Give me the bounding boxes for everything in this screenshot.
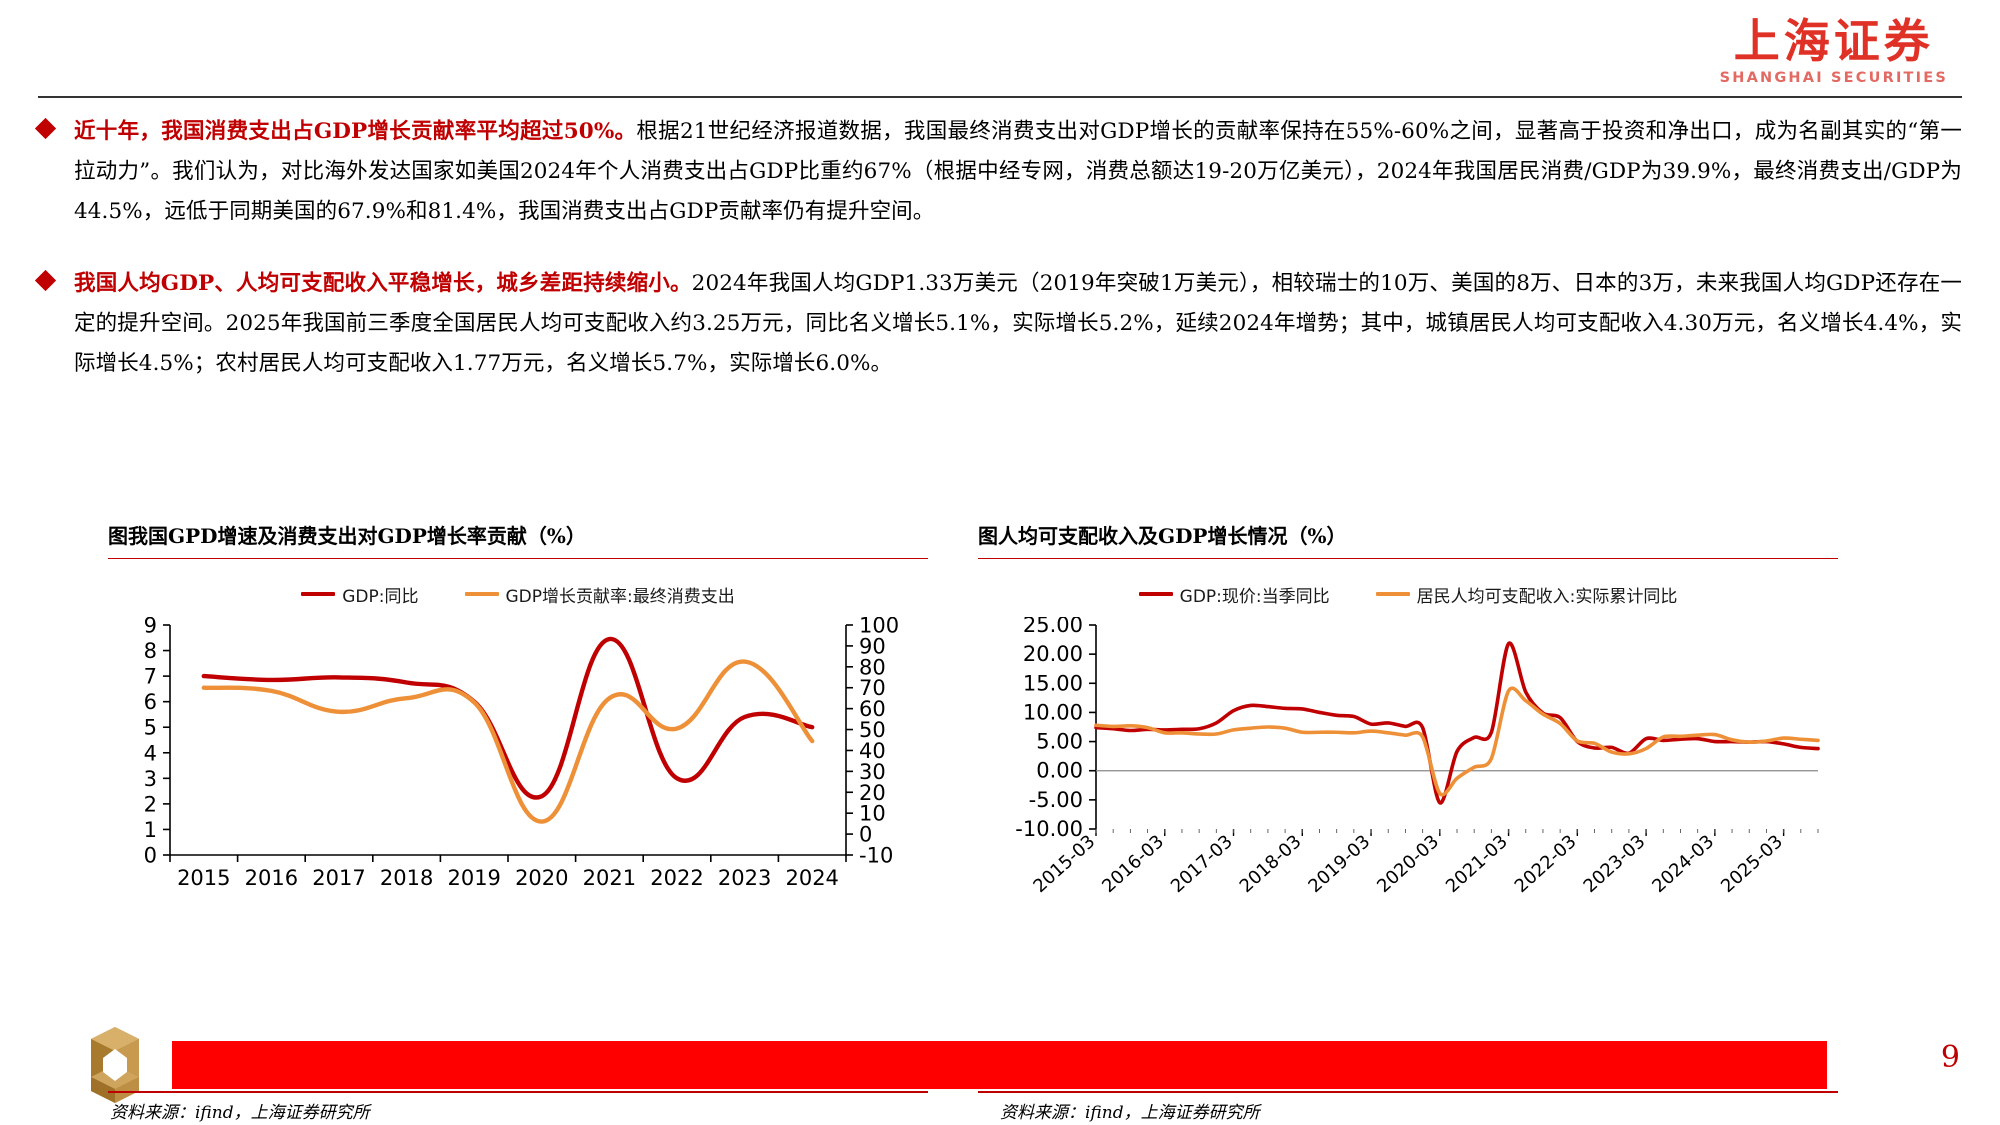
- svg-text:100: 100: [859, 617, 899, 638]
- slide-page: 上海证券 SHANGHAI SECURITIES 近十年，我国消费支出占GDP增…: [0, 0, 2000, 1125]
- svg-text:20: 20: [859, 781, 886, 805]
- svg-text:2020-03: 2020-03: [1373, 831, 1443, 897]
- svg-text:5: 5: [144, 716, 157, 740]
- svg-text:0: 0: [859, 823, 872, 847]
- svg-text:2023-03: 2023-03: [1579, 831, 1649, 897]
- paragraph-income: 我国人均GDP、人均可支配收入平稳增长，城乡差距持续缩小。2024年我国人均GD…: [38, 264, 1962, 384]
- legend-label-consumption-contrib: GDP增长贡献率:最终消费支出: [506, 582, 735, 607]
- source-note-right: 资料来源：ifind，上海证券研究所: [1000, 1098, 1260, 1123]
- svg-text:2023: 2023: [718, 866, 771, 890]
- svg-text:2021-03: 2021-03: [1442, 831, 1512, 897]
- svg-text:8: 8: [144, 639, 157, 663]
- chart-gdp-contribution-title: 图我国GPD增速及消费支出对GDP增长率贡献（%）: [108, 520, 928, 558]
- paragraph-income-text: 我国人均GDP、人均可支配收入平稳增长，城乡差距持续缩小。2024年我国人均GD…: [74, 264, 1962, 384]
- svg-text:30: 30: [859, 760, 886, 784]
- svg-text:2021: 2021: [583, 866, 636, 890]
- header-divider: [38, 96, 1962, 98]
- svg-text:-10: -10: [859, 844, 893, 868]
- chart-gdp-contribution-legend: GDP:同比 GDP增长贡献率:最终消费支出: [108, 581, 928, 607]
- svg-text:25.00: 25.00: [1023, 617, 1083, 637]
- paragraph-consumption: 近十年，我国消费支出占GDP增长贡献率平均超过50%。根据21世纪经济报道数据，…: [38, 112, 1962, 232]
- svg-text:15.00: 15.00: [1023, 671, 1083, 695]
- paragraph-consumption-text: 近十年，我国消费支出占GDP增长贡献率平均超过50%。根据21世纪经济报道数据，…: [74, 112, 1962, 232]
- legend-swatch-dark-red: [1139, 592, 1173, 596]
- svg-text:0.00: 0.00: [1036, 759, 1083, 783]
- svg-text:2016-03: 2016-03: [1098, 831, 1168, 897]
- legend-item-gdp-yoy: GDP:同比: [301, 582, 418, 607]
- svg-text:2019: 2019: [447, 866, 500, 890]
- svg-text:70: 70: [859, 676, 886, 700]
- svg-text:2025-03: 2025-03: [1717, 831, 1787, 897]
- svg-text:1: 1: [144, 818, 157, 842]
- brand-name-en: SHANGHAI SECURITIES: [1720, 71, 1948, 86]
- company-emblem-icon: [82, 1025, 148, 1105]
- svg-text:3: 3: [144, 767, 157, 791]
- source-divider-left: [108, 1091, 928, 1093]
- svg-text:2017-03: 2017-03: [1167, 831, 1237, 897]
- chart-income-gdp-svg: -10.00-5.000.005.0010.0015.0020.0025.002…: [978, 617, 1838, 912]
- legend-swatch-orange: [465, 592, 499, 596]
- legend-item-consumption-contrib: GDP增长贡献率:最终消费支出: [465, 582, 735, 607]
- svg-text:2024-03: 2024-03: [1648, 831, 1718, 897]
- svg-text:2019-03: 2019-03: [1304, 831, 1374, 897]
- source-divider-right: [978, 1091, 1838, 1093]
- paragraph-consumption-lead: 近十年，我国消费支出占GDP增长贡献率平均超过50%。: [74, 119, 636, 144]
- legend-item-disposable-income: 居民人均可支配收入:实际累计同比: [1376, 582, 1678, 607]
- svg-text:2: 2: [144, 792, 157, 816]
- chart-title-underline: [978, 558, 1838, 559]
- svg-text:5.00: 5.00: [1036, 730, 1083, 754]
- page-number: 9: [1941, 1040, 1960, 1075]
- svg-text:2018-03: 2018-03: [1236, 831, 1306, 897]
- legend-label-gdp-current-price: GDP:现价:当季同比: [1180, 582, 1330, 607]
- diamond-bullet-icon: [35, 270, 56, 291]
- chart-title-underline: [108, 558, 928, 559]
- chart-income-gdp-legend: GDP:现价:当季同比 居民人均可支配收入:实际累计同比: [978, 581, 1838, 607]
- footer-red-bar: [172, 1041, 1827, 1089]
- svg-text:60: 60: [859, 697, 886, 721]
- svg-text:2022: 2022: [650, 866, 703, 890]
- svg-text:2018: 2018: [380, 866, 433, 890]
- svg-text:2022-03: 2022-03: [1511, 831, 1581, 897]
- brand-name-cn: 上海证券: [1720, 18, 1948, 64]
- svg-text:2016: 2016: [245, 866, 298, 890]
- svg-text:9: 9: [144, 617, 157, 638]
- svg-text:2015: 2015: [177, 866, 230, 890]
- svg-text:7: 7: [144, 665, 157, 689]
- svg-text:90: 90: [859, 634, 886, 658]
- svg-text:-10.00: -10.00: [1015, 817, 1083, 841]
- svg-text:4: 4: [144, 741, 157, 765]
- svg-text:2017: 2017: [312, 866, 365, 890]
- svg-text:10.00: 10.00: [1023, 700, 1083, 724]
- chart-gdp-contribution-svg: 0123456789-10010203040506070809010020152…: [108, 617, 928, 907]
- diamond-bullet-icon: [35, 118, 56, 139]
- chart-income-gdp: 图人均可支配收入及GDP增长情况（%） GDP:现价:当季同比 居民人均可支配收…: [978, 520, 1838, 912]
- brand-logo: 上海证券 SHANGHAI SECURITIES: [1720, 18, 1948, 86]
- chart-gdp-contribution: 图我国GPD增速及消费支出对GDP增长率贡献（%） GDP:同比 GDP增长贡献…: [108, 520, 928, 907]
- chart-income-gdp-title: 图人均可支配收入及GDP增长情况（%）: [978, 520, 1838, 558]
- legend-label-disposable-income: 居民人均可支配收入:实际累计同比: [1417, 582, 1678, 607]
- chart-income-gdp-plot: -10.00-5.000.005.0010.0015.0020.0025.002…: [978, 617, 1838, 912]
- svg-text:2024: 2024: [785, 866, 838, 890]
- svg-text:80: 80: [859, 655, 886, 679]
- svg-text:20.00: 20.00: [1023, 642, 1083, 666]
- svg-text:6: 6: [144, 690, 157, 714]
- legend-item-gdp-current-price: GDP:现价:当季同比: [1139, 582, 1330, 607]
- chart-gdp-contribution-plot: 0123456789-10010203040506070809010020152…: [108, 617, 928, 907]
- svg-text:2020: 2020: [515, 866, 568, 890]
- legend-swatch-dark-red: [301, 592, 335, 596]
- source-note-left: 资料来源：ifind，上海证券研究所: [110, 1098, 370, 1123]
- svg-text:50: 50: [859, 718, 886, 742]
- svg-text:10: 10: [859, 802, 886, 826]
- legend-swatch-orange: [1376, 592, 1410, 596]
- svg-text:0: 0: [144, 844, 157, 868]
- legend-label-gdp-yoy: GDP:同比: [342, 582, 418, 607]
- svg-text:40: 40: [859, 739, 886, 763]
- svg-text:2015-03: 2015-03: [1029, 831, 1099, 897]
- paragraph-income-lead: 我国人均GDP、人均可支配收入平稳增长，城乡差距持续缩小。: [74, 271, 692, 296]
- svg-text:-5.00: -5.00: [1029, 788, 1083, 812]
